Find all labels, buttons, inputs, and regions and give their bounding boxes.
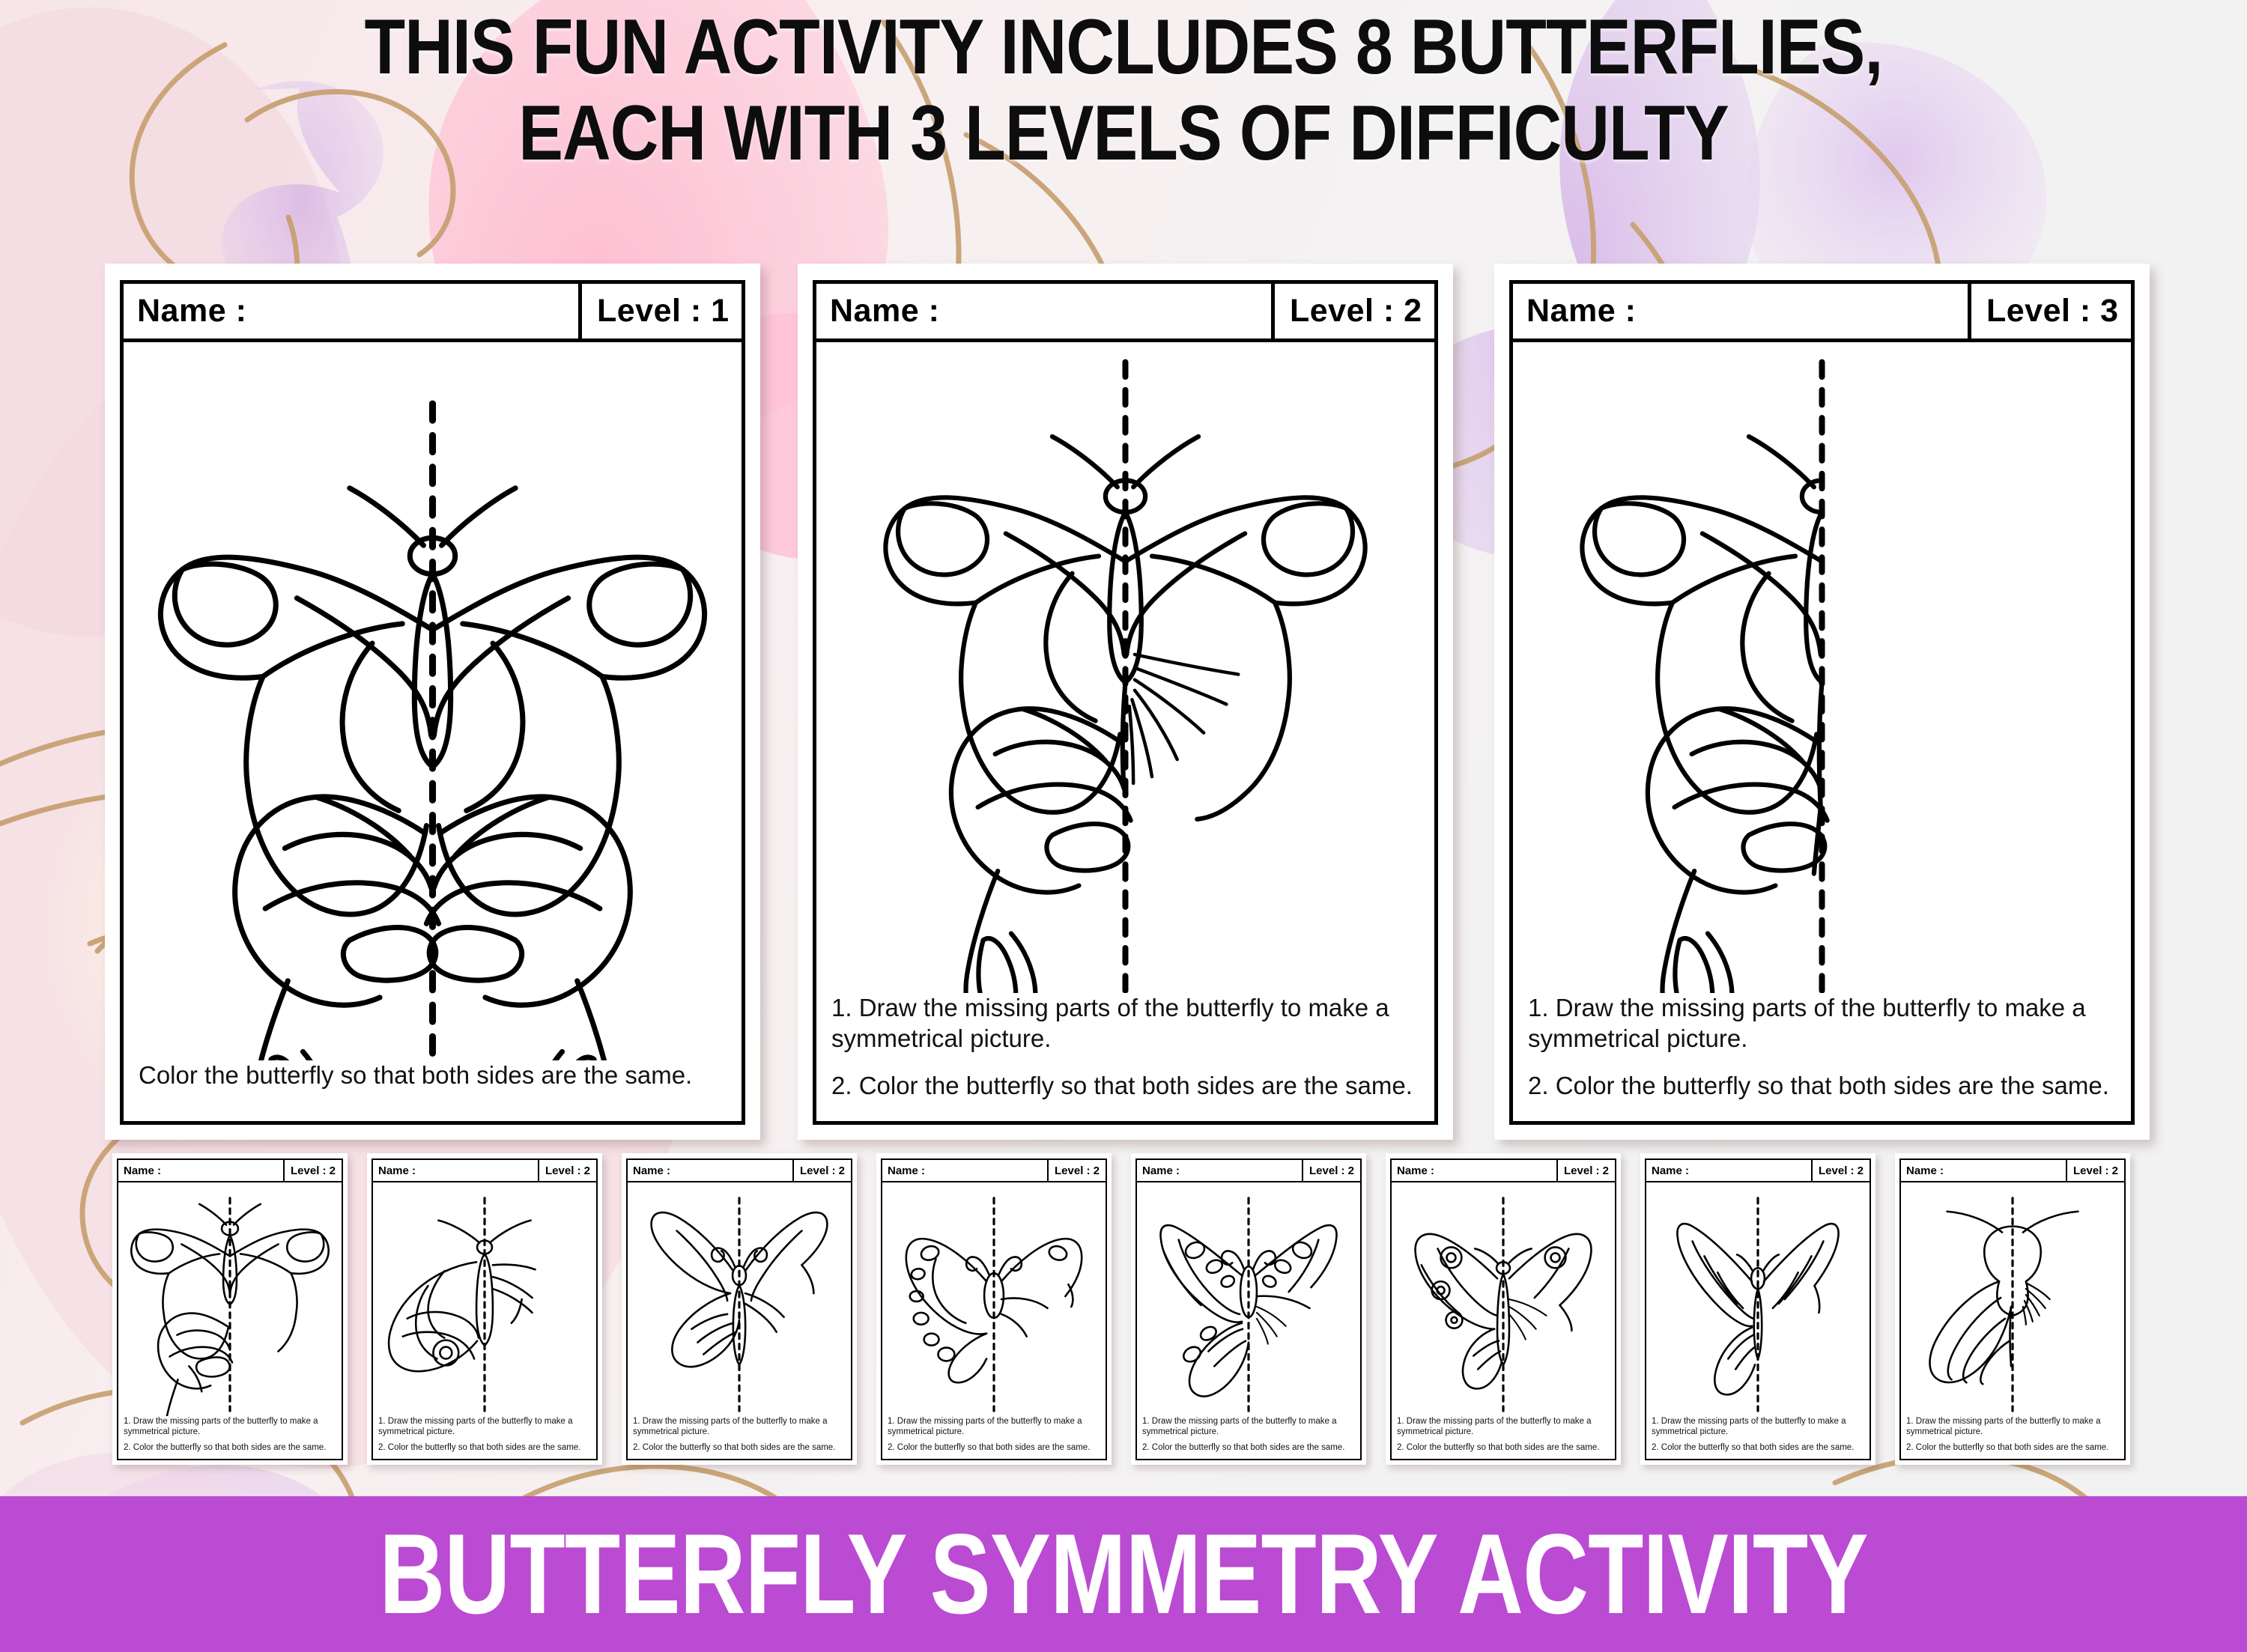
instruction-block: 1. Draw the missing parts of the butterf…	[1901, 1416, 2124, 1459]
instruction-line-2: 2. Color the butterfly so that both side…	[1528, 1071, 2117, 1102]
instruction-block: Color the butterfly so that both sides a…	[124, 1060, 742, 1121]
thumbnail-worksheet[interactable]: Name : Level : 2	[1640, 1153, 1875, 1465]
instruction-line-2: 2. Color the butterfly so that both side…	[831, 1071, 1421, 1102]
name-field-label[interactable]: Name :	[1646, 1160, 1811, 1181]
spotted-wing-half-icon	[882, 1182, 1106, 1416]
name-field-label[interactable]: Name :	[373, 1160, 538, 1181]
name-field-label[interactable]: Name :	[124, 284, 578, 338]
thumbnail-header: Name : Level : 2	[118, 1160, 342, 1182]
instruction-line-1: 1. Draw the missing parts of the butterf…	[633, 1416, 846, 1437]
thumbnail-header: Name : Level : 2	[628, 1160, 851, 1182]
butterfly-artwork-thumb	[1137, 1182, 1360, 1416]
butterfly-artwork-level-1	[124, 342, 742, 1060]
instruction-line-2: 2. Color the butterfly so that both side…	[633, 1442, 846, 1453]
instruction-block: 1. Draw the missing parts of the butterf…	[1646, 1416, 1870, 1459]
level-badge: Level : 2	[1047, 1160, 1106, 1181]
instruction-block: 1. Draw the missing parts of the butterf…	[118, 1416, 342, 1459]
worksheet-level-1[interactable]: Name : Level : 1	[105, 264, 760, 1140]
tiger-moth-half-icon	[1901, 1182, 2124, 1416]
page-title: THIS FUN ACTIVITY INCLUDES 8 BUTTERFLIES…	[157, 10, 2090, 171]
worksheet-level-3[interactable]: Name : Level : 3	[1494, 264, 2150, 1140]
name-field-label[interactable]: Name :	[628, 1160, 792, 1181]
thumbnail-worksheet[interactable]: Name : Level : 2	[876, 1153, 1112, 1465]
instruction-line-1: 1. Draw the missing parts of the butterf…	[888, 1416, 1101, 1437]
instruction-line-2: 2. Color the butterfly so that both side…	[378, 1442, 592, 1453]
curled-antenna-half-icon	[628, 1182, 851, 1416]
level-badge: Level : 2	[1556, 1160, 1615, 1181]
worksheet-header: Name : Level : 3	[1513, 284, 2131, 342]
butterfly-artwork-level-2	[816, 342, 1434, 993]
banner-title: BUTTERFLY SYMMETRY ACTIVITY	[379, 1517, 1867, 1631]
thumbnail-header: Name : Level : 2	[882, 1160, 1106, 1182]
name-field-label[interactable]: Name :	[118, 1160, 283, 1181]
butterfly-artwork-thumb	[1646, 1182, 1870, 1416]
instruction-line-2: 2. Color the butterfly so that both side…	[1906, 1442, 2120, 1453]
thumbnail-header: Name : Level : 2	[1392, 1160, 1615, 1182]
thumbnail-worksheet[interactable]: Name : Level : 2	[622, 1153, 857, 1465]
instruction-line-2: 2. Color the butterfly so that both side…	[888, 1442, 1101, 1453]
name-field-label[interactable]: Name :	[882, 1160, 1047, 1181]
instruction-block: 1. Draw the missing parts of the butterf…	[628, 1416, 851, 1459]
butterfly-artwork-thumb	[1901, 1182, 2124, 1416]
instruction-block: 1. Draw the missing parts of the butterf…	[1137, 1416, 1360, 1459]
name-field-label[interactable]: Name :	[1137, 1160, 1302, 1181]
butterfly-artwork-thumb	[628, 1182, 851, 1416]
instruction-line-1: 1. Draw the missing parts of the butterf…	[831, 993, 1421, 1054]
level-badge: Level : 2	[1271, 284, 1434, 338]
thumbnail-worksheet[interactable]: Name : Level : 2	[112, 1153, 348, 1465]
instruction-line-2: 2. Color the butterfly so that both side…	[1397, 1442, 1610, 1453]
instruction-line-1: 1. Draw the missing parts of the butterf…	[1528, 993, 2117, 1054]
level-badge: Level : 2	[1302, 1160, 1360, 1181]
thumbnail-worksheet[interactable]: Name : Level : 2	[1386, 1153, 1621, 1465]
swallowtail-half-icon	[118, 1182, 342, 1416]
worksheet-header: Name : Level : 1	[124, 284, 742, 342]
thumbnail-strip: Name : Level : 2	[112, 1153, 2150, 1475]
level-badge: Level : 2	[2066, 1160, 2124, 1181]
butterfly-full-symmetric-icon	[124, 342, 742, 1060]
thumbnail-header: Name : Level : 2	[1901, 1160, 2124, 1182]
instruction-line-1: 1. Draw the missing parts of the butterf…	[124, 1416, 337, 1437]
instruction-line-2: 2. Color the butterfly so that both side…	[1142, 1442, 1356, 1453]
instruction-block: 1. Draw the missing parts of the butterf…	[1392, 1416, 1615, 1459]
butterfly-artwork-thumb	[1392, 1182, 1615, 1416]
name-field-label[interactable]: Name :	[1392, 1160, 1556, 1181]
level-badge: Level : 2	[283, 1160, 342, 1181]
instruction-line-1: 1. Draw the missing parts of the butterf…	[1142, 1416, 1356, 1437]
butterfly-artwork-thumb	[882, 1182, 1106, 1416]
worksheet-preview-row: Name : Level : 1	[105, 264, 2150, 1140]
pointed-leaf-wing-half-icon	[1646, 1182, 1870, 1416]
level-badge: Level : 2	[792, 1160, 851, 1181]
instruction-line-1: 1. Draw the missing parts of the butterf…	[378, 1416, 592, 1437]
name-field-label[interactable]: Name :	[1513, 284, 1968, 338]
level-badge: Level : 2	[538, 1160, 596, 1181]
instruction-line: Color the butterfly so that both sides a…	[139, 1060, 728, 1091]
striped-spotted-half-icon	[1137, 1182, 1360, 1416]
level-badge: Level : 3	[1968, 284, 2131, 338]
worksheet-level-2[interactable]: Name : Level : 2	[798, 264, 1453, 1140]
thumbnail-header: Name : Level : 2	[373, 1160, 596, 1182]
thumbnail-worksheet[interactable]: Name : Level : 2	[367, 1153, 602, 1465]
butterfly-artwork-thumb	[118, 1182, 342, 1416]
thumbnail-worksheet[interactable]: Name : Level : 2	[1895, 1153, 2130, 1465]
page-title-line-1: THIS FUN ACTIVITY INCLUDES 8 BUTTERFLIES…	[157, 10, 2090, 85]
butterfly-half-upper-right-kept-icon	[816, 342, 1434, 993]
page-title-line-2: EACH WITH 3 LEVELS OF DIFFICULTY	[157, 97, 2090, 171]
moth-eyespot-half-icon	[373, 1182, 596, 1416]
instruction-block: 1. Draw the missing parts of the butterf…	[373, 1416, 596, 1459]
level-badge: Level : 1	[578, 284, 742, 338]
name-field-label[interactable]: Name :	[816, 284, 1271, 338]
name-field-label[interactable]: Name :	[1901, 1160, 2066, 1181]
instruction-line-2: 2. Color the butterfly so that both side…	[1652, 1442, 1865, 1453]
butterfly-left-half-only-icon	[1513, 342, 2131, 993]
butterfly-artwork-thumb	[373, 1182, 596, 1416]
butterfly-artwork-level-3	[1513, 342, 2131, 993]
instruction-block: 1. Draw the missing parts of the butterf…	[1513, 993, 2131, 1121]
instruction-line-1: 1. Draw the missing parts of the butterf…	[1652, 1416, 1865, 1437]
instruction-block: 1. Draw the missing parts of the butterf…	[882, 1416, 1106, 1459]
instruction-line-1: 1. Draw the missing parts of the butterf…	[1906, 1416, 2120, 1437]
thumbnail-header: Name : Level : 2	[1137, 1160, 1360, 1182]
thumbnail-worksheet[interactable]: Name : Level : 2	[1131, 1153, 1366, 1465]
thumbnail-header: Name : Level : 2	[1646, 1160, 1870, 1182]
worksheet-header: Name : Level : 2	[816, 284, 1434, 342]
instruction-line-1: 1. Draw the missing parts of the butterf…	[1397, 1416, 1610, 1437]
bottom-banner: BUTTERFLY SYMMETRY ACTIVITY	[0, 1496, 2247, 1652]
level-badge: Level : 2	[1811, 1160, 1870, 1181]
instruction-block: 1. Draw the missing parts of the butterf…	[816, 993, 1434, 1121]
instruction-line-2: 2. Color the butterfly so that both side…	[124, 1442, 337, 1453]
eyespot-ringed-half-icon	[1392, 1182, 1615, 1416]
